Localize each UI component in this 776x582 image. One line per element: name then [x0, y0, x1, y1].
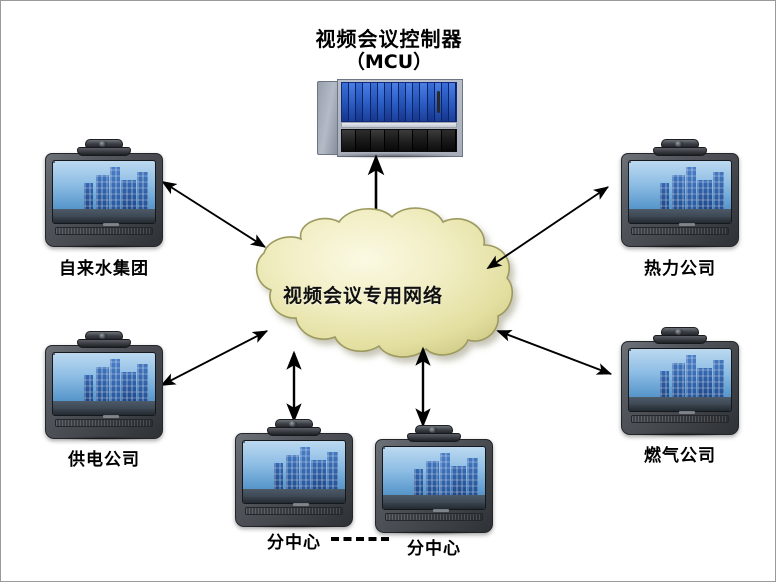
node-sub2-tv[interactable]: [375, 425, 493, 533]
camera-icon: [77, 331, 131, 348]
camera-icon: [407, 425, 461, 442]
node-heating-tv[interactable]: [621, 139, 739, 247]
camera-icon: [77, 139, 131, 156]
tv-speaker-grille: [245, 507, 343, 515]
mcu-title-sub: （MCU）: [256, 51, 522, 74]
node-power-label: 供电公司: [24, 445, 184, 470]
camera-icon: [653, 327, 707, 344]
tv-shadow: [635, 244, 725, 249]
mcu-title-main: 视频会议控制器: [316, 27, 463, 51]
node-sub2-label: 分中心: [354, 534, 514, 559]
node-water-label: 自来水集团: [24, 254, 184, 279]
tv-speaker-grille: [55, 419, 153, 427]
tv-brand-mark: [103, 223, 119, 226]
camera-icon: [267, 419, 321, 436]
tv-brand-mark: [293, 503, 309, 506]
diagram-canvas: 视频会议控制器 （MCU）: [0, 0, 776, 582]
mcu-chassis: [317, 79, 463, 157]
mcu-antenna: [437, 91, 440, 113]
link-gas-network: [498, 331, 611, 374]
mcu-drive-bays: [341, 129, 457, 152]
tv-screen: [628, 348, 732, 412]
tv-brand-mark: [103, 415, 119, 418]
mcu-card-rail: [341, 122, 457, 128]
mcu-shadow: [327, 153, 459, 159]
node-sub1-tv[interactable]: [235, 419, 353, 527]
camera-icon: [653, 139, 707, 156]
tv-screen: [382, 446, 486, 510]
node-power-tv[interactable]: [45, 331, 163, 439]
tv-brand-mark: [433, 509, 449, 512]
tv-speaker-grille: [385, 513, 483, 521]
tv-screen: [242, 440, 346, 504]
tv-brand-mark: [679, 223, 695, 226]
node-gas-label: 燃气公司: [600, 441, 760, 466]
tv-shadow: [59, 244, 149, 249]
node-heating-label: 热力公司: [600, 254, 760, 279]
node-water-tv[interactable]: [45, 139, 163, 247]
mcu-title: 视频会议控制器 （MCU）: [256, 27, 522, 75]
tv-speaker-grille: [631, 415, 729, 423]
tv-speaker-grille: [55, 227, 153, 235]
tv-screen: [52, 160, 156, 224]
network-cloud-labelwrap: 视频会议专用网络: [217, 229, 509, 359]
network-cloud-label: 视频会议专用网络: [217, 281, 509, 308]
tv-speaker-grille: [631, 227, 729, 235]
tv-shadow: [635, 432, 725, 437]
tv-screen: [52, 352, 156, 416]
node-gas-tv[interactable]: [621, 327, 739, 435]
tv-brand-mark: [679, 411, 695, 414]
tv-shadow: [59, 436, 149, 441]
tv-screen: [628, 160, 732, 224]
mcu-side-panel: [317, 81, 339, 155]
